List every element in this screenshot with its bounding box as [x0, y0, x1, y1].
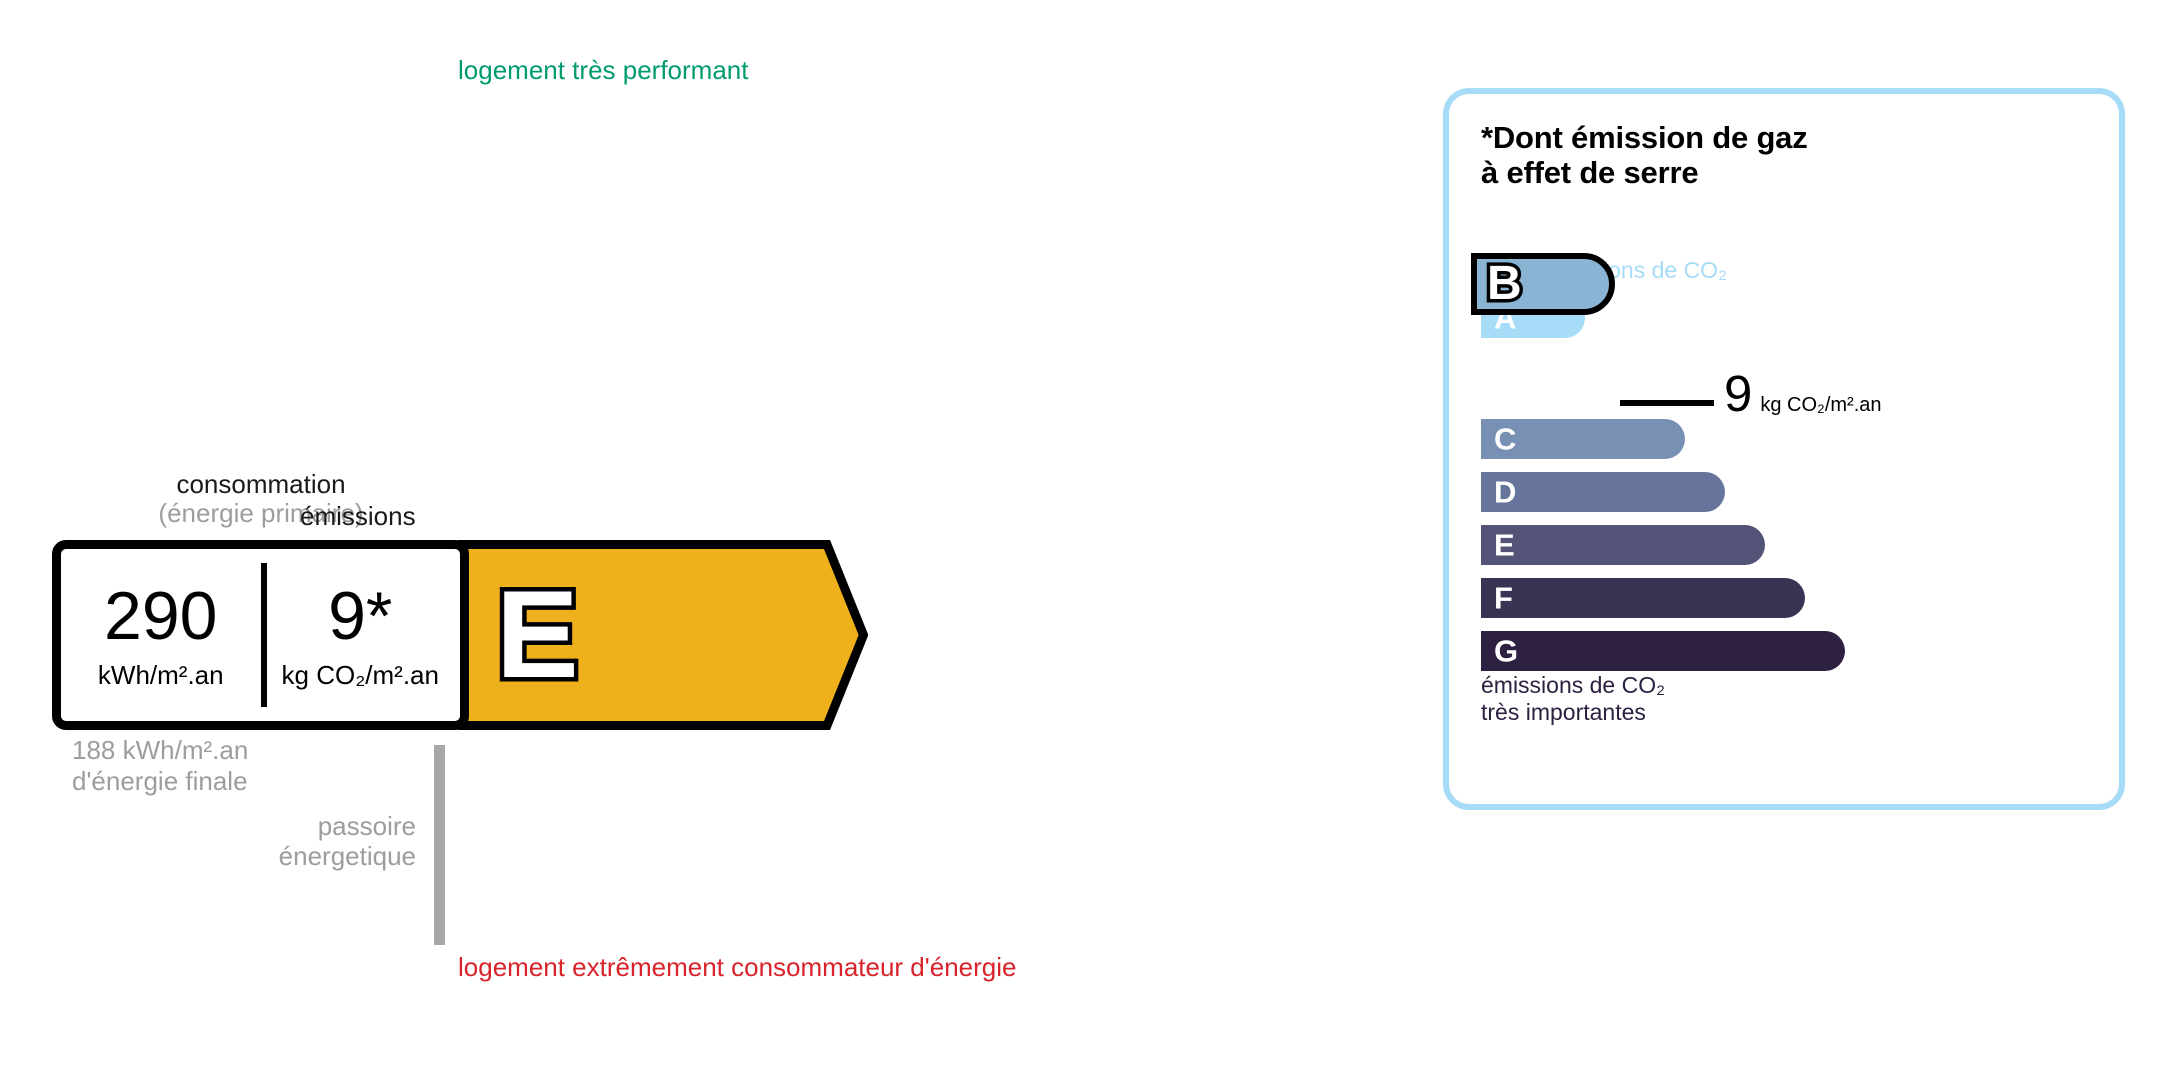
consumption-value-cell: 290 kWh/m².an	[61, 549, 261, 721]
energy-performance-chart: logement très performant ABCDFG E consom…	[0, 0, 1400, 1079]
co2-value-connector-line	[1620, 400, 1714, 406]
co2-value-cell: 9* kg CO₂/m².an	[261, 549, 461, 721]
co2-selected-unit: kg CO₂/m².an	[1760, 394, 1881, 417]
co2-bar-g-shape	[1481, 631, 1845, 671]
co2-selected-value: 9	[1724, 368, 1752, 419]
energy-bar-b: B	[458, 195, 787, 283]
co2-unit: kg CO₂/m².an	[282, 662, 439, 688]
final-energy-note: 188 kWh/m².an d'énergie finale	[72, 735, 248, 797]
final-energy-note-line1: 188 kWh/m².an	[72, 735, 248, 766]
consumption-value: 290	[104, 582, 217, 650]
passoire-energetique-label: passoire énergetique	[228, 812, 416, 872]
energy-bar-selected-e: E	[458, 540, 868, 730]
co2-value: 9*	[328, 582, 392, 650]
consumption-unit: kWh/m².an	[98, 662, 224, 688]
passoire-label-line2: énergetique	[228, 842, 416, 872]
co2-emissions-panel: *Dont émission de gaz à effet de serre p…	[1443, 88, 2125, 810]
co2-bar-letter-e: E	[1494, 530, 1515, 561]
co2-panel-title: *Dont émission de gaz à effet de serre	[1481, 120, 1808, 191]
energy-bottom-caption: logement extrêmement consommateur d'éner…	[458, 952, 1016, 983]
co2-bar-d: D	[1481, 472, 1725, 512]
consumption-label-main: consommation	[176, 469, 345, 499]
energy-bar-letter-b: B	[484, 208, 529, 270]
co2-selected-value-group: 9 kg CO₂/m².an	[1724, 368, 1882, 419]
co2-bar-selected-b: B	[1471, 253, 1615, 315]
co2-bar-c: C	[1481, 419, 1685, 459]
energy-bar-letter-a: A	[484, 103, 529, 165]
passoire-label-line1: passoire	[228, 812, 416, 842]
energy-bar-letter-f: F	[484, 758, 522, 820]
co2-bar-g: G	[1481, 631, 1845, 671]
co2-title-line2: à effet de serre	[1481, 155, 1808, 190]
energy-bar-f: F	[458, 745, 1095, 833]
energy-bar-d: D	[458, 428, 941, 516]
energy-bar-letter-d: D	[484, 441, 529, 503]
energy-bar-letter-e: E	[496, 573, 579, 697]
emissions-label: émissions	[300, 501, 416, 532]
passoire-energetique-bracket	[434, 745, 445, 945]
energy-bar-a: A	[458, 90, 710, 178]
co2-bar-letter-b: B	[1487, 260, 1522, 308]
co2-bar-f-shape	[1481, 578, 1805, 618]
co2-bottom-caption: émissions de CO₂ très importantes	[1481, 672, 1665, 726]
energy-bar-letter-c: C	[484, 315, 529, 377]
energy-bar-c: C	[458, 302, 864, 390]
co2-bar-e-shape	[1481, 525, 1765, 565]
co2-bottom-caption-line1: émissions de CO₂	[1481, 672, 1665, 699]
final-energy-note-line2: d'énergie finale	[72, 766, 248, 797]
co2-bar-letter-g: G	[1494, 636, 1518, 667]
consumption-value-box: 290 kWh/m².an 9* kg CO₂/m².an	[52, 540, 469, 730]
co2-bottom-caption-line2: très importantes	[1481, 699, 1665, 726]
co2-bar-d-shape	[1481, 472, 1725, 512]
co2-bar-f: F	[1481, 578, 1805, 618]
energy-bar-g: G	[458, 857, 1172, 945]
co2-bar-letter-f: F	[1494, 583, 1513, 614]
co2-bar-e: E	[1481, 525, 1765, 565]
energy-top-caption: logement très performant	[458, 55, 748, 86]
energy-bar-letter-g: G	[484, 870, 532, 932]
co2-title-line1: *Dont émission de gaz	[1481, 120, 1808, 155]
co2-bar-letter-c: C	[1494, 424, 1516, 455]
co2-bar-letter-d: D	[1494, 477, 1516, 508]
